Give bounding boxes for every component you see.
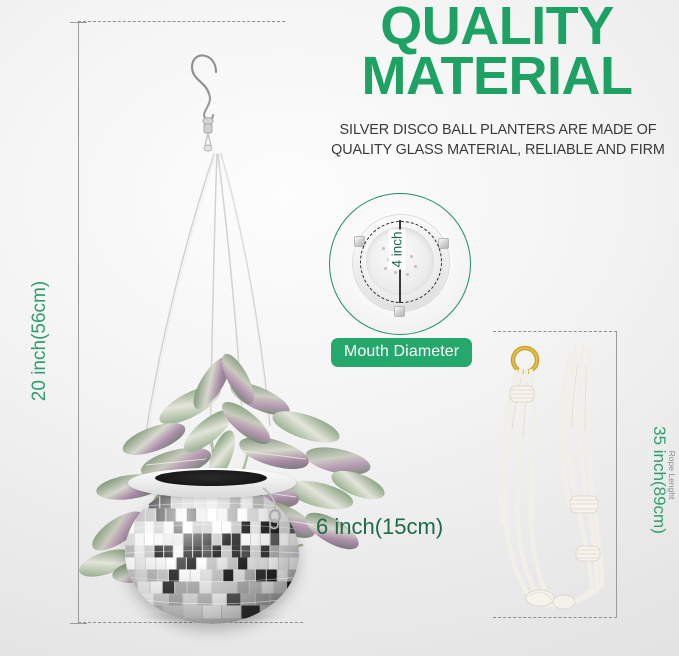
headline-line-1: QUALITY — [318, 2, 676, 52]
height-dimension-cap-bottom — [70, 623, 87, 624]
mouth-diameter-badge: Mouth Diameter — [331, 338, 472, 367]
mouth-diameter-inset: 4 inch — [329, 193, 471, 335]
rope-knot-upper-left — [510, 386, 534, 402]
cord-clip — [255, 486, 289, 530]
rope-length-caption: Rope Lenght — [667, 415, 677, 535]
metal-s-hook — [186, 36, 232, 166]
headline: QUALITY MATERIAL — [318, 2, 676, 101]
planter-soil — [155, 470, 267, 486]
macrame-rope-hanger — [494, 338, 619, 618]
silver-disco-ball-planter — [125, 468, 299, 624]
rope-knot-mid-right — [570, 496, 598, 513]
headline-line-2: MATERIAL — [318, 52, 676, 102]
ball-diameter-label: 6 inch(15cm) — [316, 514, 443, 540]
subtitle-line-2: QUALITY GLASS MATERIAL, RELIABLE AND FIR… — [318, 140, 678, 160]
rope-knot-lower-right — [576, 546, 600, 561]
subtitle-line-1: SILVER DISCO BALL PLANTERS ARE MADE OF — [318, 120, 678, 140]
rope-length-label: 35 inch(89cm) — [649, 405, 669, 555]
top-guide-dashed-line — [78, 21, 285, 22]
rope-guide-dashed-top — [493, 331, 617, 332]
subtitle: SILVER DISCO BALL PLANTERS ARE MADE OF Q… — [318, 120, 678, 161]
inset-clip-bottom — [394, 306, 405, 317]
mouth-diameter-value: 4 inch — [389, 229, 406, 269]
total-height-label: 20 inch(56cm) — [29, 261, 51, 421]
infographic-canvas: 20 inch(56cm) — [0, 0, 679, 656]
height-dimension-cap-top — [70, 22, 87, 23]
